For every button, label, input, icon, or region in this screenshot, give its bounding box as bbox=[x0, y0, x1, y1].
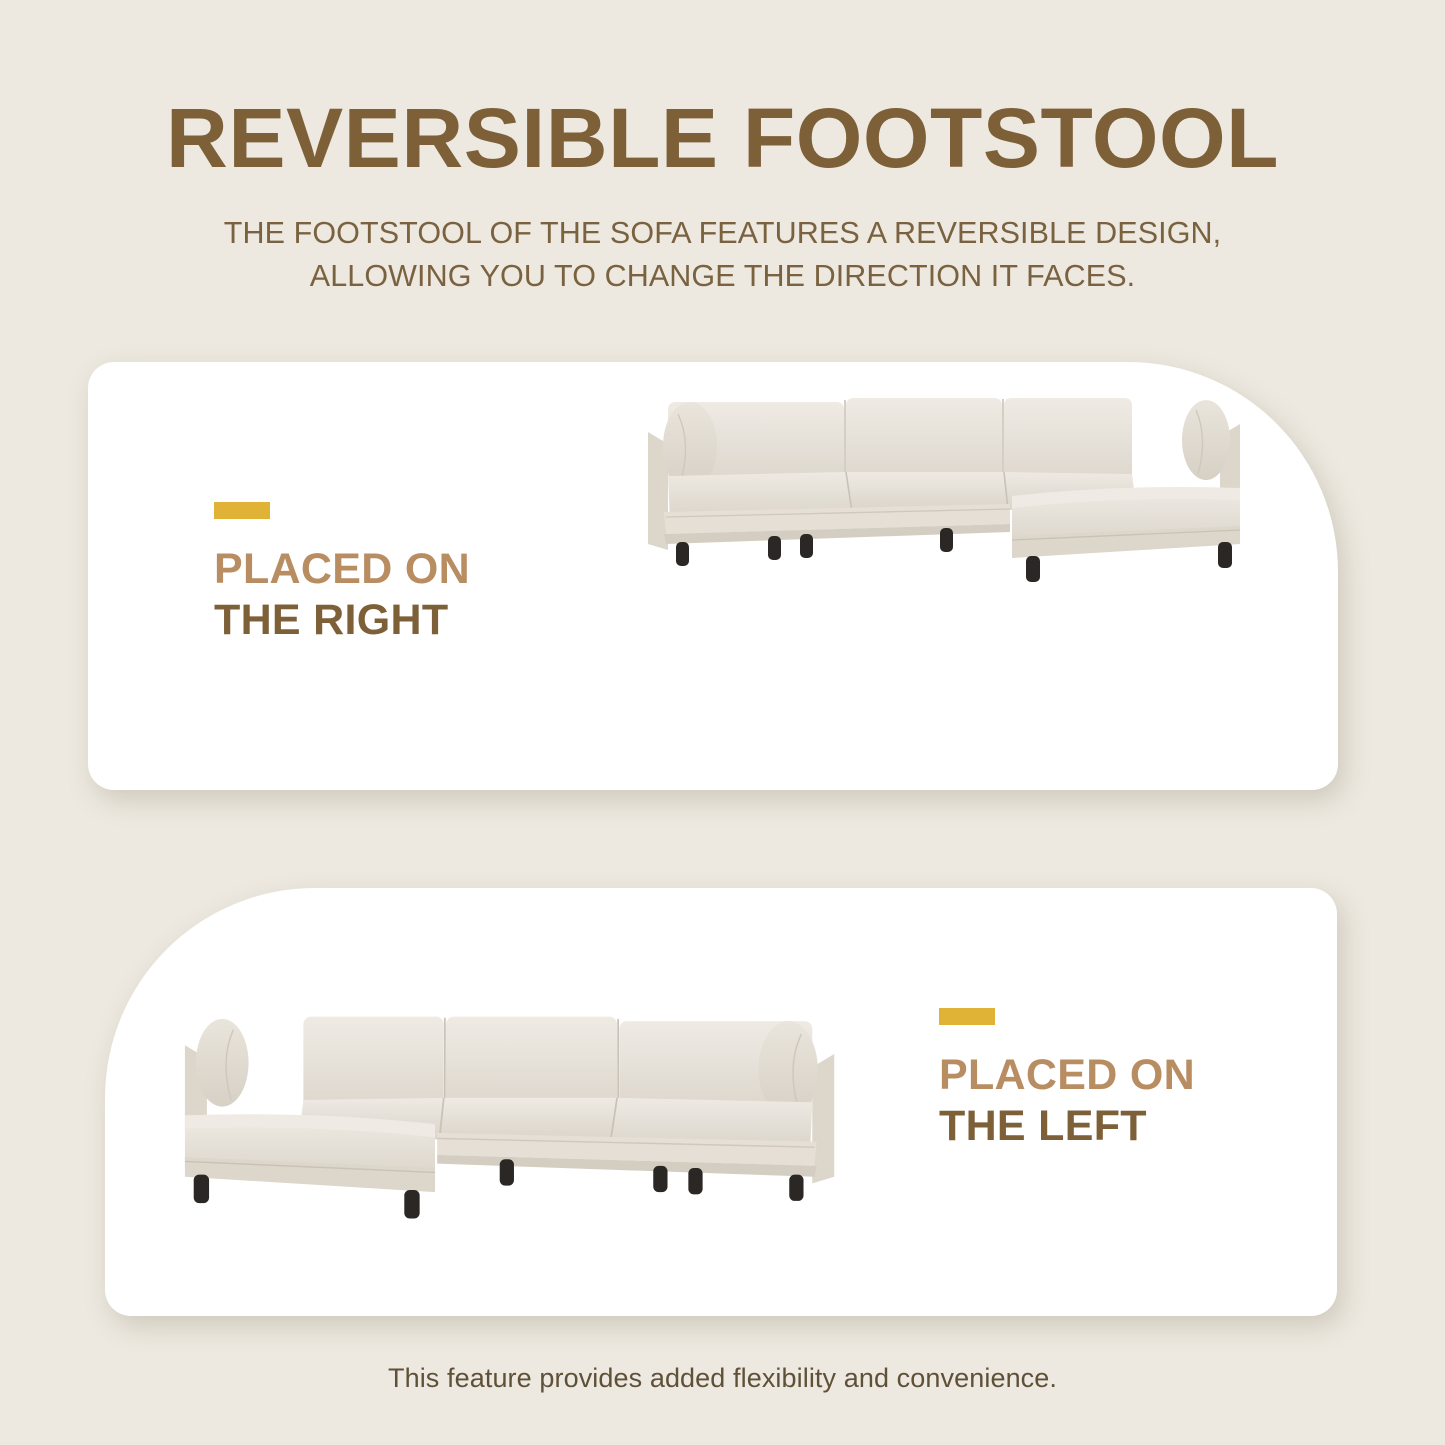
subtitle-line-1: THE FOOTSTOOL OF THE SOFA FEATURES A REV… bbox=[0, 212, 1445, 255]
card-label-line-2: THE LEFT bbox=[939, 1101, 1195, 1152]
card-label-line-2: THE RIGHT bbox=[214, 595, 470, 646]
label-block-left: PLACED ON THE LEFT bbox=[939, 1008, 1195, 1151]
subtitle-line-2: ALLOWING YOU TO CHANGE THE DIRECTION IT … bbox=[0, 255, 1445, 298]
card-label-line-1: PLACED ON bbox=[939, 1050, 1195, 1101]
card-placed-on-the-left[interactable]: PLACED ON THE LEFT bbox=[105, 888, 1337, 1316]
sofa-image-footstool-right bbox=[640, 384, 1260, 584]
sofa-image-footstool-left bbox=[163, 996, 843, 1226]
footer-note: This feature provides added flexibility … bbox=[0, 1363, 1445, 1394]
page-header: REVERSIBLE FOOTSTOOL THE FOOTSTOOL OF TH… bbox=[0, 0, 1445, 299]
accent-bar-icon bbox=[214, 502, 270, 519]
accent-bar-icon bbox=[939, 1008, 995, 1025]
page-title: REVERSIBLE FOOTSTOOL bbox=[0, 96, 1445, 180]
label-block-right: PLACED ON THE RIGHT bbox=[214, 502, 470, 645]
card-placed-on-the-right[interactable]: PLACED ON THE RIGHT bbox=[88, 362, 1338, 790]
page-subtitle: THE FOOTSTOOL OF THE SOFA FEATURES A REV… bbox=[0, 212, 1445, 299]
card-label-line-1: PLACED ON bbox=[214, 544, 470, 595]
